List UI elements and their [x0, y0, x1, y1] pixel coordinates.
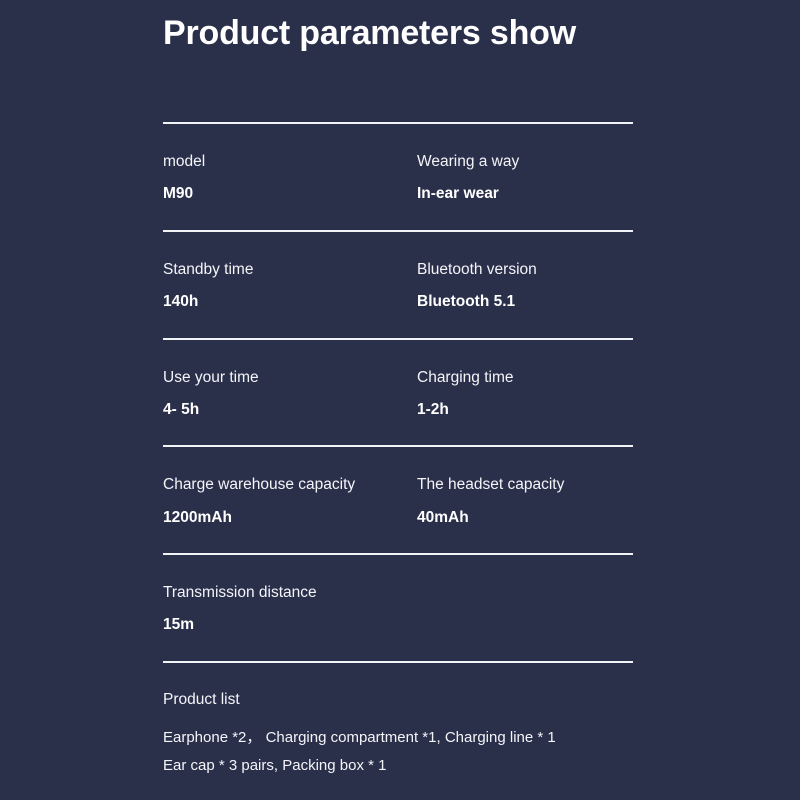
product-list-lines: Earphone *2， Charging compartment *1, Ch…	[163, 724, 633, 780]
product-parameters-page: Product parameters show model M90 Wearin…	[0, 0, 800, 800]
spec-value: Bluetooth 5.1	[417, 292, 633, 311]
spec-value: 1-2h	[417, 400, 633, 419]
table-row: Transmission distance 15m	[163, 555, 633, 661]
list-item: Ear cap * 3 pairs, Packing box * 1	[163, 752, 633, 780]
product-list-section: Product list Earphone *2， Charging compa…	[163, 663, 633, 780]
spec-value: M90	[163, 184, 417, 203]
list-item: Earphone *2， Charging compartment *1, Ch…	[163, 724, 633, 752]
spec-label: Transmission distance	[163, 583, 417, 602]
spec-value: 140h	[163, 292, 417, 311]
spec-value: 40mAh	[417, 508, 633, 527]
spec-cell-left: Standby time 140h	[163, 260, 417, 312]
spec-label: Charging time	[417, 368, 633, 387]
spec-label: Charge warehouse capacity	[163, 475, 417, 494]
spec-cell-left: model M90	[163, 152, 417, 204]
spec-cell-right: Charging time 1-2h	[417, 368, 633, 420]
spec-cell-left: Transmission distance 15m	[163, 583, 417, 635]
table-row: Standby time 140h Bluetooth version Blue…	[163, 232, 633, 338]
table-row: Charge warehouse capacity 1200mAh The he…	[163, 447, 633, 553]
spec-label: The headset capacity	[417, 475, 633, 494]
spec-label: Standby time	[163, 260, 417, 279]
spec-value: 1200mAh	[163, 508, 417, 527]
table-row: Use your time 4- 5h Charging time 1-2h	[163, 340, 633, 446]
spec-label: model	[163, 152, 417, 171]
spec-label: Use your time	[163, 368, 417, 387]
specifications-table: model M90 Wearing a way In-ear wear Stan…	[163, 122, 633, 780]
spec-label: Wearing a way	[417, 152, 633, 171]
spec-value: 15m	[163, 615, 417, 634]
spec-label: Bluetooth version	[417, 260, 633, 279]
spec-cell-left: Charge warehouse capacity 1200mAh	[163, 475, 417, 527]
spec-value: 4- 5h	[163, 400, 417, 419]
spec-cell-right: Bluetooth version Bluetooth 5.1	[417, 260, 633, 312]
table-row: model M90 Wearing a way In-ear wear	[163, 124, 633, 230]
spec-cell-left: Use your time 4- 5h	[163, 368, 417, 420]
spec-cell-right: The headset capacity 40mAh	[417, 475, 633, 527]
page-title: Product parameters show	[163, 14, 576, 53]
spec-cell-right: Wearing a way In-ear wear	[417, 152, 633, 204]
product-list-title: Product list	[163, 690, 633, 709]
spec-value: In-ear wear	[417, 184, 633, 203]
